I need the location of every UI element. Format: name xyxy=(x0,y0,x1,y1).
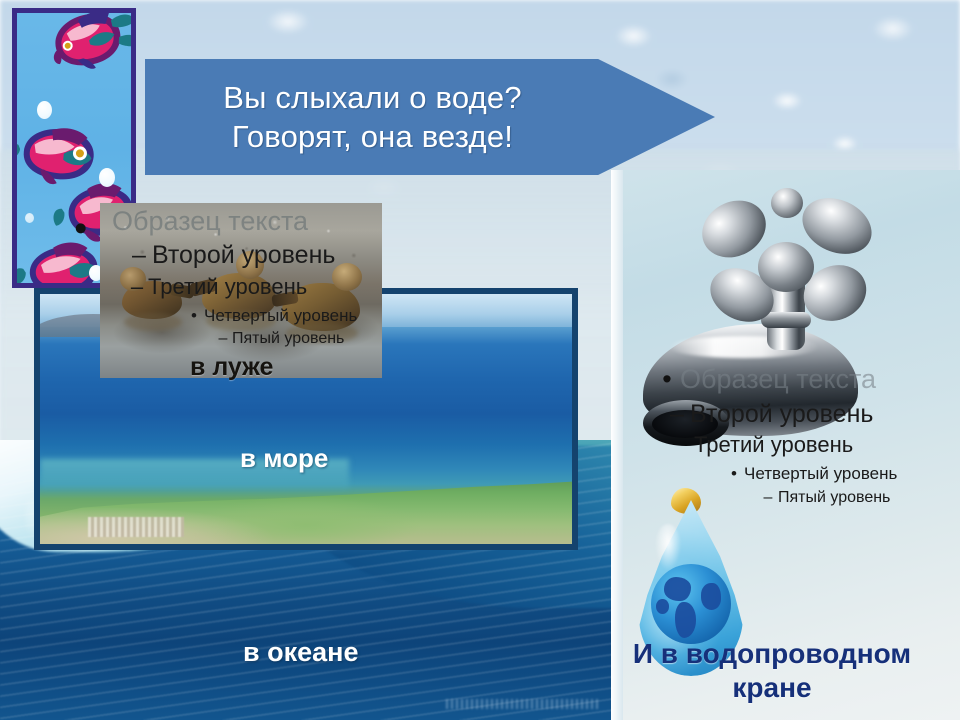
left-placeholder-level5-row: – Пятый уровень xyxy=(214,330,438,348)
round-bullet-icon: • xyxy=(654,364,680,395)
photo-watermark xyxy=(446,699,601,709)
bubble-icon xyxy=(25,213,34,223)
globe-landmass xyxy=(701,583,722,610)
caption-tap: И в водопроводном кране xyxy=(592,637,952,704)
right-placeholder-level3-row: Третий уровень xyxy=(694,432,953,458)
globe-landmass xyxy=(656,599,669,613)
globe-icon xyxy=(651,564,731,644)
left-placeholder-level4-row: • Четвертый уровень xyxy=(184,306,438,326)
dash-bullet-icon: – xyxy=(664,400,690,429)
left-placeholder-level2: Второй уровень xyxy=(152,241,335,270)
right-placeholder-text[interactable]: • Образец текста – Второй уровень Третий… xyxy=(648,364,953,507)
globe-landmass xyxy=(675,602,696,637)
left-placeholder-text[interactable]: Образец текста – Второй уровень – Третий… xyxy=(108,206,438,348)
right-placeholder-level2-row: – Второй уровень xyxy=(664,400,953,429)
globe-landmass xyxy=(664,577,691,601)
caption-sea: в море xyxy=(240,443,328,474)
page-title: Вы слыхали о воде? Говорят, она везде! xyxy=(145,78,600,156)
caption-puddle: в луже xyxy=(190,353,273,382)
right-placeholder-level1-row: • Образец текста xyxy=(654,364,953,395)
dash-bullet-icon: – xyxy=(758,489,778,507)
title-line-2: Говорят, она везде! xyxy=(145,117,600,156)
right-placeholder-level4: Четвертый уровень xyxy=(744,464,897,484)
sea-coastal-town xyxy=(88,517,184,537)
fish-icon xyxy=(17,240,100,283)
left-placeholder-level3: Третий уровень xyxy=(148,274,307,300)
round-bullet-icon: • xyxy=(724,464,744,484)
right-placeholder-level2: Второй уровень xyxy=(690,400,873,429)
caption-ocean: в океане xyxy=(243,637,358,668)
faucet-ring xyxy=(761,312,811,328)
left-placeholder-level5: Пятый уровень xyxy=(232,330,344,348)
right-placeholder-level5-row: – Пятый уровень xyxy=(758,489,953,507)
water-drop-highlight xyxy=(655,524,681,570)
dash-bullet-icon: – xyxy=(214,330,232,348)
fish-icon xyxy=(17,122,96,188)
faucet-handle-hub xyxy=(758,242,814,292)
left-placeholder-level3-row: – Третий уровень xyxy=(126,274,438,300)
title-banner-arrow: Вы слыхали о воде? Говорят, она везде! xyxy=(145,59,715,175)
round-bullet-icon: • xyxy=(184,306,204,326)
left-placeholder-level1-row: Образец текста xyxy=(112,206,438,237)
presentation-slide: Образец текста – Второй уровень – Третий… xyxy=(0,0,960,720)
bubble-icon xyxy=(37,101,52,119)
left-placeholder-level4: Четвертый уровень xyxy=(204,306,357,326)
bubble-icon xyxy=(99,168,115,187)
title-line-1: Вы слыхали о воде? xyxy=(145,78,600,117)
right-placeholder-level5: Пятый уровень xyxy=(778,489,890,507)
left-placeholder-level1: Образец текста xyxy=(112,206,308,237)
right-placeholder-level3: Третий уровень xyxy=(694,432,853,458)
dash-bullet-icon: – xyxy=(126,274,148,300)
right-placeholder-level1: Образец текста xyxy=(680,364,876,395)
right-placeholder-level4-row: • Четвертый уровень xyxy=(724,464,953,484)
fish-icon xyxy=(45,13,131,77)
left-placeholder-level2-row: – Второй уровень xyxy=(126,241,438,270)
faucet-handle-nut xyxy=(771,188,803,218)
dash-bullet-icon: – xyxy=(126,241,152,270)
